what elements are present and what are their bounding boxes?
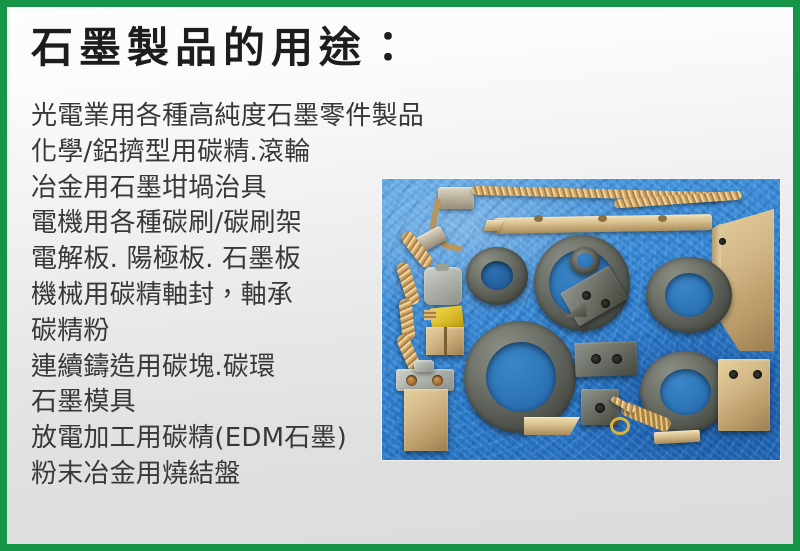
graphite-block-2hole-hole-2 xyxy=(612,354,622,364)
carbon-brush-body-split xyxy=(444,327,447,355)
brush-holder-boss xyxy=(414,360,434,372)
graphite-block-2hole-hole-1 xyxy=(591,354,601,364)
graphite-seal-ring-1-bore xyxy=(481,261,513,290)
list-item: 粉末冶金用燒結盤 xyxy=(31,457,391,493)
list-item: 放電加工用碳精(EDM石墨) xyxy=(31,421,391,457)
list-item: 化學/鋁擠型用碳精.滾輪 xyxy=(31,135,391,171)
graphite-disc-plate-tab xyxy=(435,264,449,271)
graphite-seal-ring-3-bore xyxy=(665,273,713,317)
graphite-block-angled-hole-1 xyxy=(582,291,591,300)
graphite-bushing-small-bore xyxy=(577,253,593,268)
list-item: 碳精粉 xyxy=(31,314,391,350)
copper-rail-notch-c xyxy=(658,215,667,222)
uses-list: 光電業用各種高純度石墨零件製品 化學/鋁擠型用碳精.滾輪 冶金用石墨坩堝治具 電… xyxy=(31,99,391,493)
graphite-products-poster: 石墨製品的用途： 光電業用各種高純度石墨零件製品 化學/鋁擠型用碳精.滾輪 冶金… xyxy=(0,0,800,551)
list-item: 機械用碳精軸封，軸承 xyxy=(31,278,391,314)
copper-block-2hole xyxy=(718,359,770,431)
list-item: 光電業用各種高純度石墨零件製品 xyxy=(31,99,391,135)
page-title: 石墨製品的用途： xyxy=(31,22,415,74)
copper-block-2hole-hole-1 xyxy=(729,370,738,379)
list-item: 冶金用石墨坩堝治具 xyxy=(31,171,391,207)
copper-block-2hole-hole-2 xyxy=(753,370,762,379)
brush-ring-clip xyxy=(610,417,630,435)
list-item: 電機用各種碳刷/碳刷架 xyxy=(31,206,391,242)
list-item: 石墨模具 xyxy=(31,385,391,421)
list-item: 連續鑄造用碳塊.碳環 xyxy=(31,350,391,386)
poster-canvas: 石墨製品的用途： 光電業用各種高純度石墨零件製品 化學/鋁擠型用碳精.滾輪 冶金… xyxy=(7,7,793,544)
graphite-block-2hole xyxy=(574,341,637,377)
copper-rail-notch-a xyxy=(534,215,543,222)
graphite-seal-ring-4-bore xyxy=(486,342,556,412)
carbon-brush-shunt xyxy=(424,310,436,320)
graphite-block-1hole-hole xyxy=(595,403,605,413)
list-item: 電解板. 陽極板. 石墨板 xyxy=(31,242,391,278)
copper-rail-notch-b xyxy=(598,215,607,222)
graphite-seal-ring-5-bore xyxy=(660,369,711,415)
product-photo xyxy=(382,179,780,460)
brush-holder-hole-2 xyxy=(432,375,443,386)
copper-terminal-bar xyxy=(654,430,701,444)
brush-holder-top-plate xyxy=(396,369,454,391)
graphite-plate-hole-top xyxy=(719,238,726,245)
graphite-disc-plate xyxy=(424,267,462,305)
brush-holder-hole-1 xyxy=(406,375,417,386)
brush-holder-body xyxy=(404,389,448,451)
graphite-block-angled-hole-2 xyxy=(601,299,610,308)
